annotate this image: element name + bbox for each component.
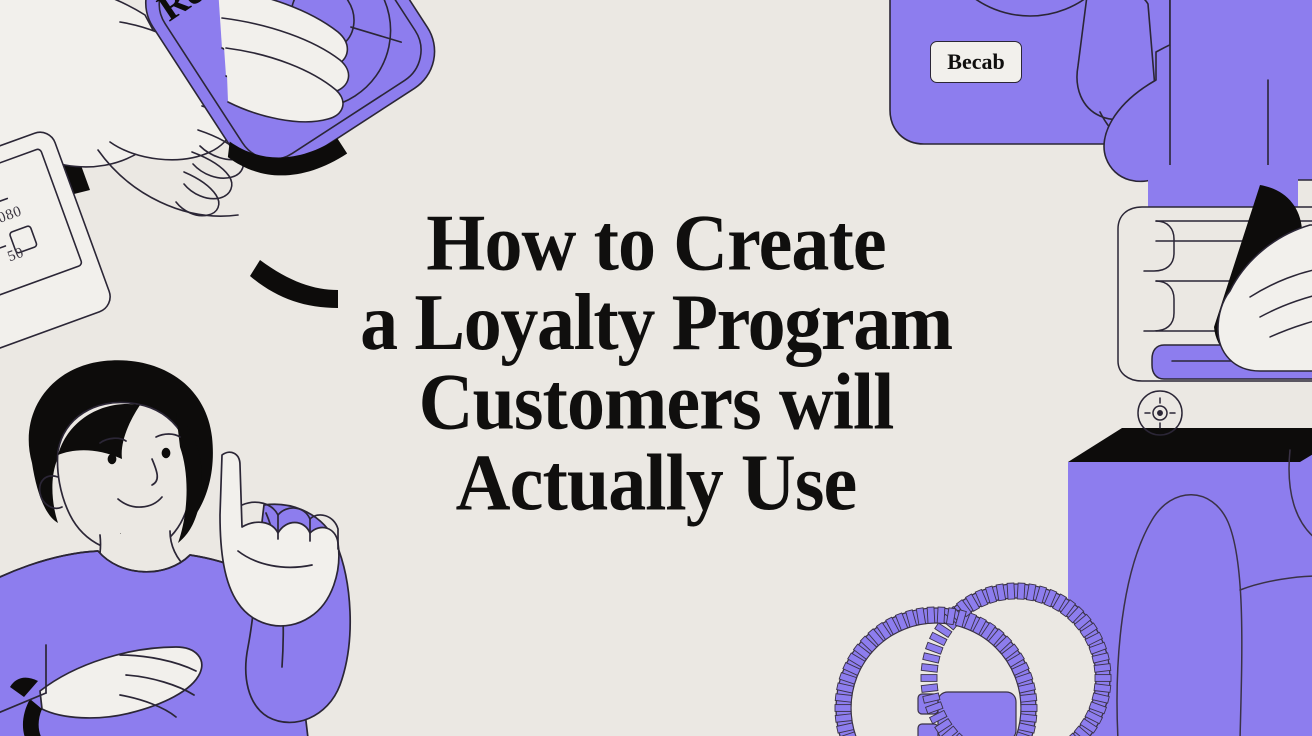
hero-canvas: Recb 080 50	[0, 0, 1312, 736]
headline-line-2: a Loyalty Program	[360, 283, 952, 363]
illustration-top-left	[0, 0, 390, 340]
illustration-coins	[820, 560, 1120, 736]
headline-line-3: Customers will	[360, 363, 952, 443]
headline-line-4: Actually Use	[360, 443, 952, 523]
page-title: How to Create a Loyalty Program Customer…	[360, 204, 952, 523]
illustration-form-card	[1110, 195, 1312, 445]
headline-line-1: How to Create	[360, 204, 952, 284]
illustration-person-pointing	[0, 355, 400, 736]
panel-label-becab: Becab	[930, 41, 1022, 83]
